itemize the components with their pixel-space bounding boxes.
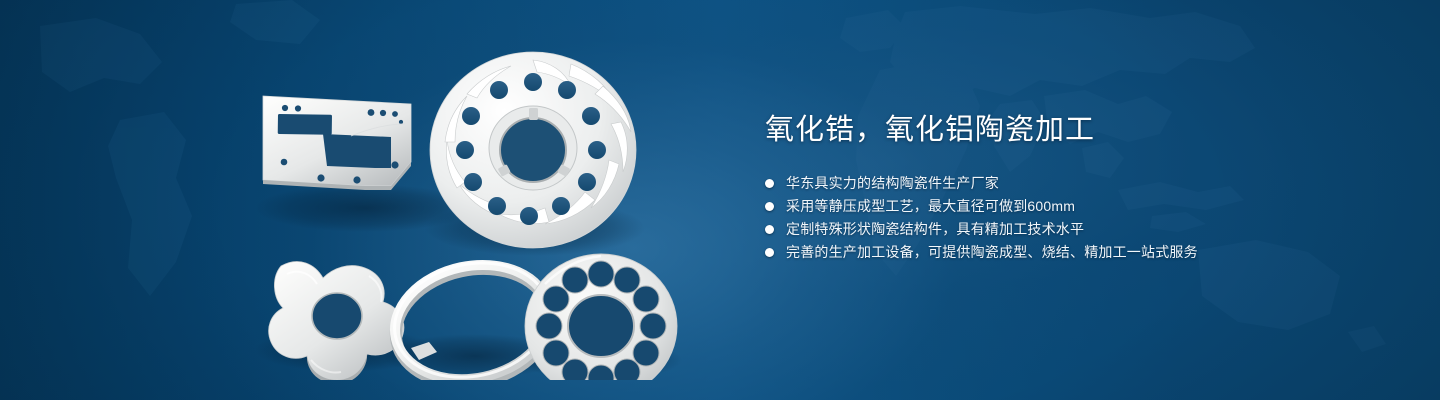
bullet-dot-icon <box>765 202 774 211</box>
list-item-label: 华东具实力的结构陶瓷件生产厂家 <box>786 172 999 195</box>
product-ceramic-plate <box>263 96 411 190</box>
page-title: 氧化锆，氧化铝陶瓷加工 <box>765 110 1385 150</box>
ceramic-products-image <box>215 30 735 380</box>
bullet-dot-icon <box>765 248 774 257</box>
list-item-label: 采用等静压成型工艺，最大直径可做到600mm <box>786 195 1075 218</box>
list-item: 华东具实力的结构陶瓷件生产厂家 <box>765 172 1385 195</box>
banner-copy: 氧化锆，氧化铝陶瓷加工 华东具实力的结构陶瓷件生产厂家 采用等静压成型工艺，最大… <box>765 110 1385 264</box>
feature-list: 华东具实力的结构陶瓷件生产厂家 采用等静压成型工艺，最大直径可做到600mm 定… <box>765 172 1385 264</box>
list-item-label: 定制特殊形状陶瓷结构件，具有精加工技术水平 <box>786 218 1084 241</box>
list-item: 定制特殊形状陶瓷结构件，具有精加工技术水平 <box>765 218 1385 241</box>
bullet-dot-icon <box>765 179 774 188</box>
list-item-label: 完善的生产加工设备，可提供陶瓷成型、烧结、精加工一站式服务 <box>786 241 1198 264</box>
list-item: 采用等静压成型工艺，最大直径可做到600mm <box>765 195 1385 218</box>
hero-banner: 氧化锆，氧化铝陶瓷加工 华东具实力的结构陶瓷件生产厂家 采用等静压成型工艺，最大… <box>0 0 1440 400</box>
list-item: 完善的生产加工设备，可提供陶瓷成型、烧结、精加工一站式服务 <box>765 241 1385 264</box>
product-perforated-disc <box>525 254 677 380</box>
product-impeller-disc <box>430 52 636 248</box>
bullet-dot-icon <box>765 225 774 234</box>
